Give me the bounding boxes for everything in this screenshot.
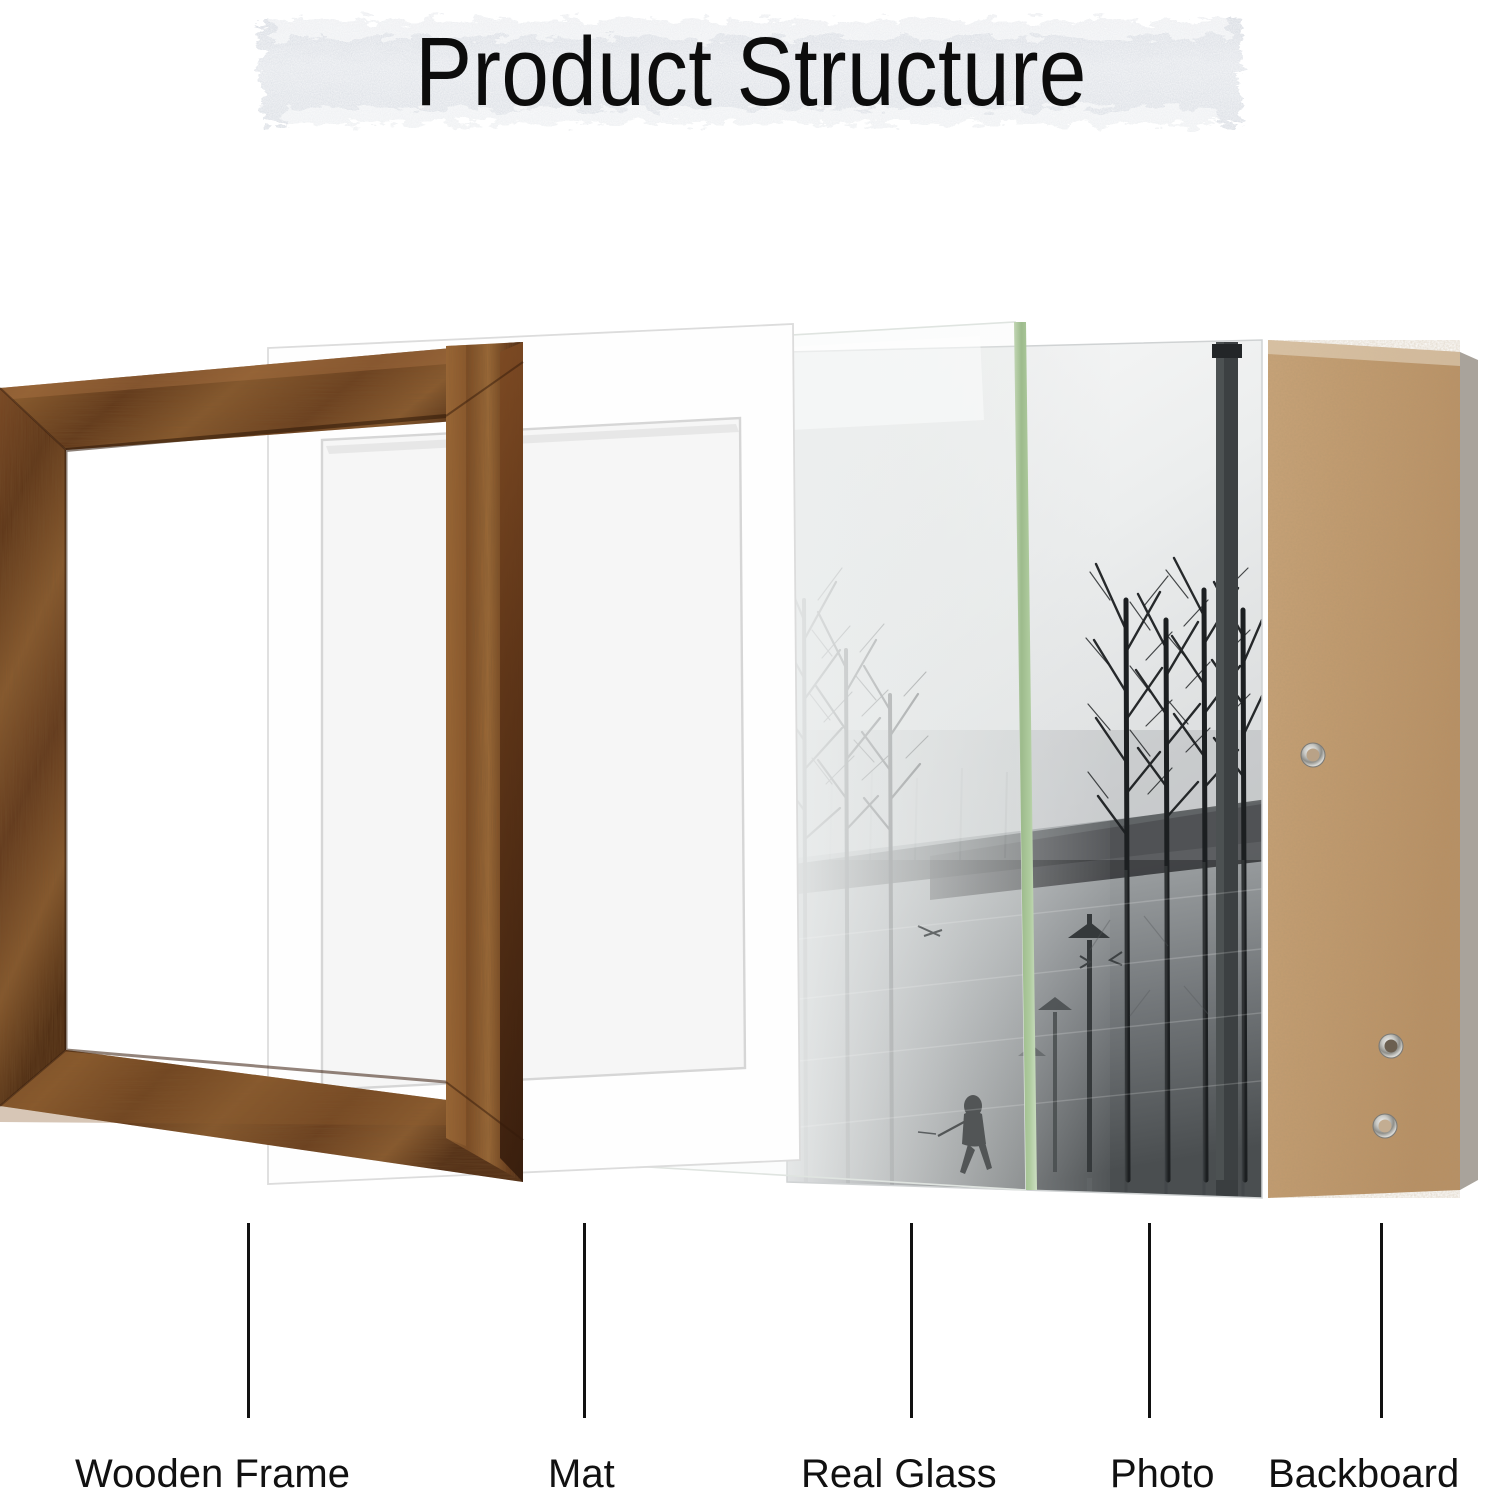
frame-rail-left <box>0 370 80 1130</box>
layer-backboard <box>1268 340 1478 1198</box>
frame-depth-edge <box>500 342 523 1182</box>
photo-figure-reflection <box>960 1188 983 1229</box>
backboard-eyelet-top <box>1301 743 1325 767</box>
leader-line-backboard <box>1380 1223 1383 1418</box>
leader-line-wooden-frame <box>247 1223 250 1418</box>
backboard-texture <box>1268 340 1460 1198</box>
backboard-eyelet-middle <box>1379 1034 1403 1058</box>
label-mat: Mat <box>548 1452 615 1497</box>
backboard-side-edge <box>1460 352 1478 1190</box>
exploded-view-diagram <box>0 300 1493 1250</box>
layer-mat <box>268 324 800 1184</box>
leader-line-mat <box>583 1223 586 1418</box>
label-backboard: Backboard <box>1268 1452 1459 1497</box>
page-title: Product Structure <box>307 8 1194 136</box>
photo-foreground-pole <box>1212 342 1242 1180</box>
mat-window-cutout <box>322 418 745 1090</box>
title-banner: Product Structure <box>247 8 1255 136</box>
label-photo: Photo <box>1110 1452 1215 1497</box>
leader-line-real-glass <box>910 1223 913 1418</box>
product-structure-infographic: Product Structure <box>0 0 1493 1500</box>
label-real-glass: Real Glass <box>801 1452 997 1497</box>
label-wooden-frame: Wooden Frame <box>75 1452 350 1497</box>
backboard-eyelet-bottom <box>1373 1114 1397 1138</box>
leader-line-photo <box>1148 1223 1151 1418</box>
